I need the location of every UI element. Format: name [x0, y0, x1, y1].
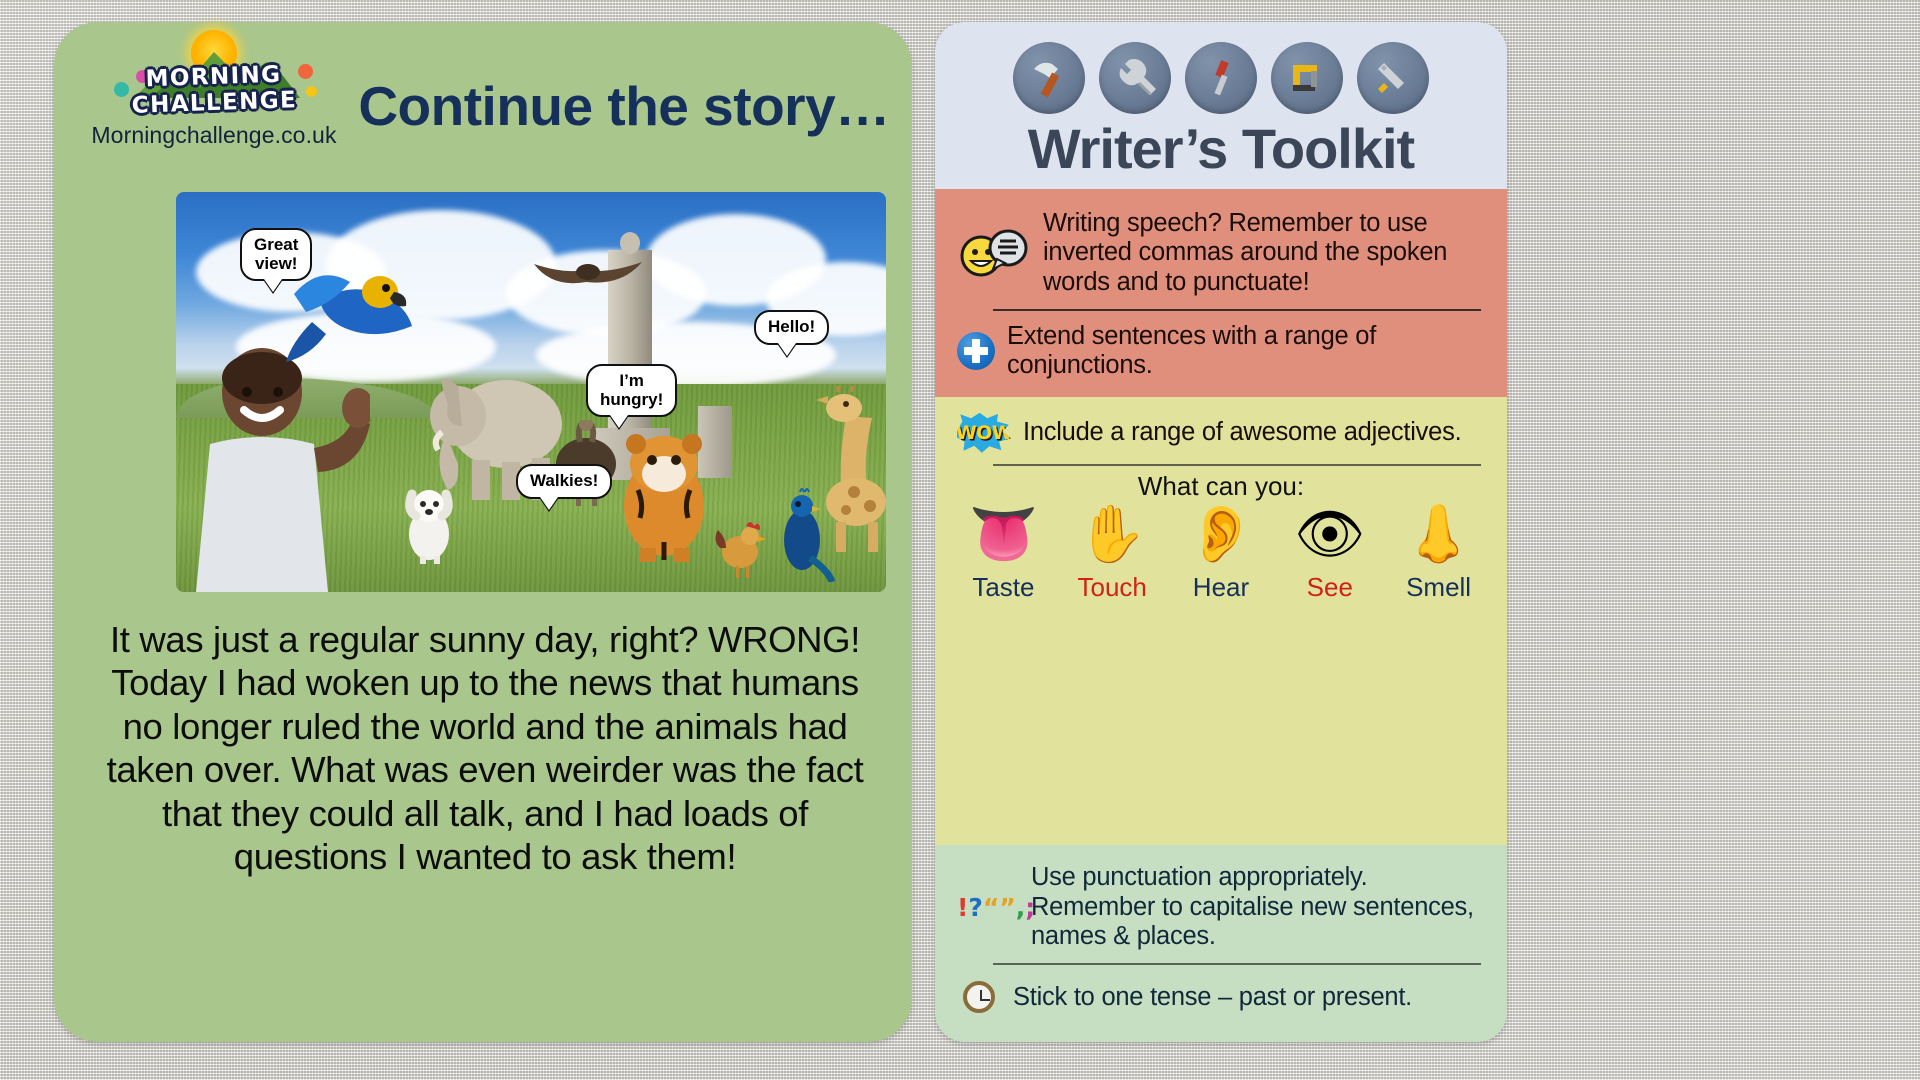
poodle-figure — [398, 488, 460, 564]
tip-text-punctuation: Use punctuation appropriately. Remember … — [1031, 863, 1489, 952]
tip-row-punctuation: !?“”,; Use punctuation appropriately. Re… — [935, 857, 1507, 958]
sense-item-see: 👁 See — [1282, 506, 1378, 603]
brand-url: Morningchallenge.co.uk — [84, 122, 344, 149]
tip-row-speech: Writing speech? Remember to use inverted… — [935, 203, 1507, 304]
nose-icon: 👃 — [1391, 506, 1487, 568]
tip-text-speech: Writing speech? Remember to use inverted… — [1043, 209, 1489, 298]
adjectives-section: WOW Include a range of awesome adjective… — [935, 397, 1507, 846]
hand-icon: ✋ — [1064, 506, 1160, 568]
morning-challenge-logo: MORNING CHALLENGE — [84, 28, 344, 120]
tongue-icon: 👅 — [955, 506, 1051, 568]
speech-bubble-great-view: Great view! — [240, 228, 312, 281]
tool-icon-row — [935, 42, 1507, 114]
boy-figure — [190, 348, 370, 592]
saw-icon — [1357, 42, 1429, 114]
speech-bubble-hello: Hello! — [754, 310, 829, 345]
brand-block: MORNING CHALLENGE Morningchallenge.co.uk — [84, 28, 344, 149]
toolkit-header: Writer’s Toolkit — [935, 22, 1507, 189]
divider — [993, 464, 1481, 466]
wow-icon: WOW — [957, 413, 1011, 453]
toolkit-title: Writer’s Toolkit — [935, 120, 1507, 179]
punctuation-marks-icon: !?“”,; — [957, 896, 1019, 920]
tiger-figure — [606, 430, 724, 562]
ear-icon: 👂 — [1173, 506, 1269, 568]
tip-text-tense: Stick to one tense – past or present. — [1013, 983, 1412, 1013]
chicken-figure — [714, 520, 770, 578]
hammer-icon — [1013, 42, 1085, 114]
tip-text-conjunctions: Extend sentences with a range of conjunc… — [1007, 322, 1489, 381]
clamp-icon — [1271, 42, 1343, 114]
speech-bubble-im-hungry: I’m hungry! — [586, 364, 677, 417]
watch-icon-wrap — [957, 976, 1001, 1020]
punctuation-section: !?“”,; Use punctuation appropriately. Re… — [935, 845, 1507, 1042]
sense-item-hear: 👂 Hear — [1173, 506, 1269, 603]
plus-icon — [957, 332, 995, 370]
sense-label-smell: Smell — [1391, 572, 1487, 603]
giraffe-figure — [794, 386, 886, 552]
sense-label-taste: Taste — [955, 572, 1051, 603]
senses-row: 👅 Taste ✋ Touch 👂 Hear 👁 See 👃 Smell — [935, 506, 1507, 603]
sense-item-touch: ✋ Touch — [1064, 506, 1160, 603]
tip-row-adjectives: WOW Include a range of awesome adjective… — [935, 407, 1507, 459]
story-illustration: Great view! Hello! I’m hungry! Walkies! — [176, 192, 886, 592]
wrench-icon — [1099, 42, 1171, 114]
tip-row-conjunctions: Extend sentences with a range of conjunc… — [935, 316, 1507, 387]
sense-label-see: See — [1282, 572, 1378, 603]
tip-text-adjectives: Include a range of awesome adjectives. — [1023, 418, 1461, 448]
sense-item-smell: 👃 Smell — [1391, 506, 1487, 603]
speech-bubble-walkies: Walkies! — [516, 464, 612, 499]
writers-toolkit-panel: Writer’s Toolkit Writing speech? Remembe… — [935, 22, 1507, 1042]
sense-label-touch: Touch — [1064, 572, 1160, 603]
story-paragraph: It was just a regular sunny day, right? … — [100, 618, 870, 879]
continue-the-story-panel: MORNING CHALLENGE Morningchallenge.co.uk… — [54, 22, 912, 1042]
divider — [993, 963, 1481, 965]
tip-row-tense: Stick to one tense – past or present. — [935, 970, 1507, 1026]
senses-heading: What can you: — [935, 471, 1507, 502]
speech-emoji-icon — [957, 228, 1031, 278]
page-title: Continue the story… — [354, 74, 894, 138]
screwdriver-icon — [1185, 42, 1257, 114]
wow-icon-wrap: WOW — [957, 413, 1011, 453]
divider — [993, 309, 1481, 311]
watch-icon — [957, 976, 1001, 1020]
sense-item-taste: 👅 Taste — [955, 506, 1051, 603]
eagle-figure — [532, 248, 644, 296]
eye-icon: 👁 — [1282, 506, 1378, 568]
plus-icon-wrap — [957, 332, 995, 370]
logo-wordmark: MORNING CHALLENGE — [83, 59, 345, 120]
speech-section: Writing speech? Remember to use inverted… — [935, 189, 1507, 397]
sense-label-hear: Hear — [1173, 572, 1269, 603]
